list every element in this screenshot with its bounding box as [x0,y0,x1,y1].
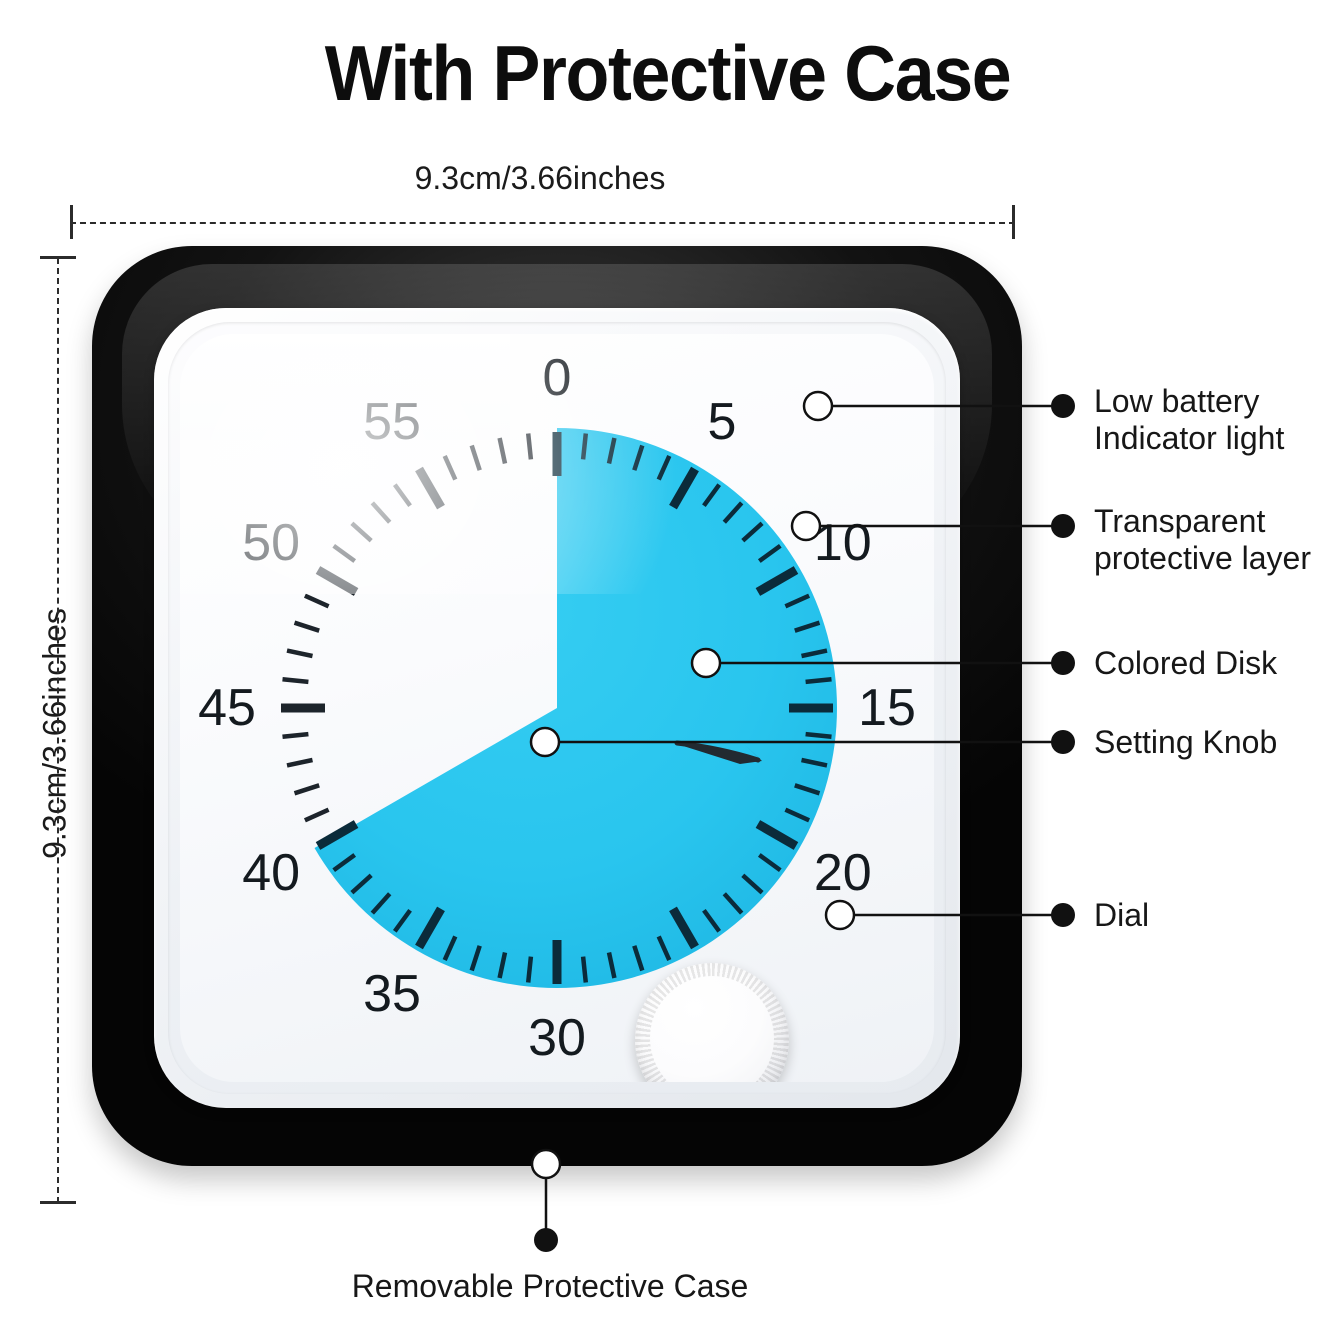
dial-tick [295,623,320,631]
timer-dial[interactable]: 0510152025303540455055 [180,334,934,1082]
dimension-cap-right [1012,205,1015,239]
dimension-line-horizontal [70,222,1015,224]
callout-label-colored-disk: Colored Disk [1094,645,1277,682]
dial-tick [334,546,355,561]
dial-tick [806,734,832,737]
dial-tick [283,734,309,737]
timer-bezel: 0510152025303540455055 [168,322,946,1094]
dimension-cap-top [40,256,76,259]
dial-tick [806,679,832,682]
dial-tick [295,785,320,793]
dial-tick [445,456,456,480]
dial-number: 20 [814,844,872,902]
dial-number: 40 [242,844,300,902]
dimension-label-width: 9.3cm/3.66inches [300,160,780,197]
dial-tick [305,810,329,821]
dial-number: 5 [708,393,737,451]
dial-tick [472,446,480,471]
infographic-canvas: With Protective Case 9.3cm/3.66inches 9.… [0,0,1335,1335]
callout-label-transparent-layer: Transparent protective layer [1094,503,1311,577]
dial-number: 30 [528,1009,586,1067]
dial-tick [287,760,313,765]
dimension-line-vertical [57,258,59,1203]
dial-number: 15 [858,679,916,737]
dimension-cap-left [70,205,73,239]
dial-tick [352,523,371,540]
product-image: 0510152025303540455055 [92,246,1022,1176]
dimension-cap-bottom [40,1201,76,1204]
dial-tick [583,957,586,983]
dial-tick [283,679,309,682]
dial-number: 45 [198,679,256,737]
colored-disk [315,428,837,988]
transparent-protective-layer: 0510152025303540455055 [180,334,934,1082]
dial-tick [305,596,329,607]
dial-tick [528,434,531,460]
callout-label-setting-knob: Setting Knob [1094,724,1277,761]
callout-label-low-battery: Low battery Indicator light [1094,383,1284,457]
timer-body: 0510152025303540455055 [154,308,960,1108]
dial-tick [583,434,586,460]
dial-tick [528,957,531,983]
dial-number: 10 [814,514,872,572]
dial-number: 50 [242,514,300,572]
dial-tick [500,438,505,464]
dial-number: 35 [363,965,421,1023]
dial-number: 0 [543,349,572,407]
dial-tick [287,651,313,656]
callout-label-dial: Dial [1094,897,1149,934]
dial-tick [419,469,441,507]
callout-label-protective-case: Removable Protective Case [0,1268,1100,1305]
dial-tick [372,503,389,522]
page-title: With Protective Case [53,28,1281,119]
dial-tick [318,570,356,592]
dial-number: 55 [363,393,421,451]
dial-tick [395,485,410,506]
dimension-label-height: 9.3cm/3.66inches [37,524,74,944]
